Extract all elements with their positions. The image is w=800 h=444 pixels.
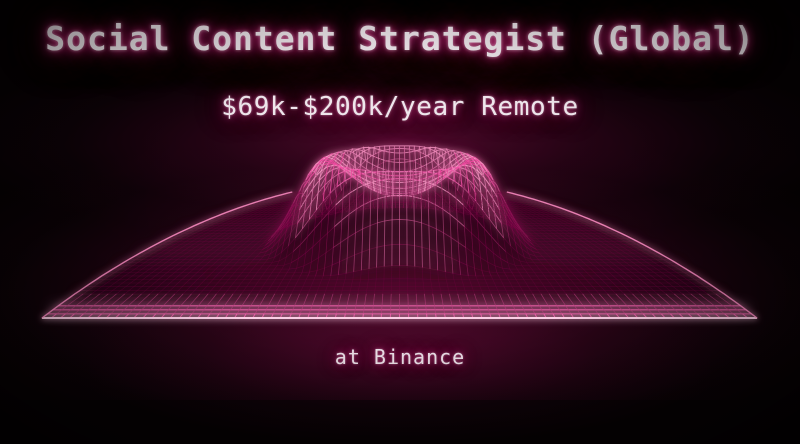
company-name-text: at Binance (335, 345, 465, 369)
salary-row: $69k-$200k/year Remote (0, 92, 800, 122)
wireframe-mesh-svg (0, 0, 800, 444)
title-row: Social Content Strategist (Global) (0, 19, 800, 58)
salary-range-text: $69k-$200k/year Remote (221, 92, 579, 122)
background-glow-bottom (90, 320, 710, 440)
background-glow-top (0, 46, 800, 236)
company-row: at Binance (0, 345, 800, 369)
mesh-lines (42, 146, 757, 318)
mesh-glow-underlay (53, 146, 746, 310)
poster-canvas: Social Content Strategist (Global) $69k-… (0, 0, 800, 444)
wireframe-mesh-graphic (0, 0, 800, 444)
vignette-overlay (0, 0, 800, 444)
page-title: Social Content Strategist (Global) (45, 19, 755, 58)
